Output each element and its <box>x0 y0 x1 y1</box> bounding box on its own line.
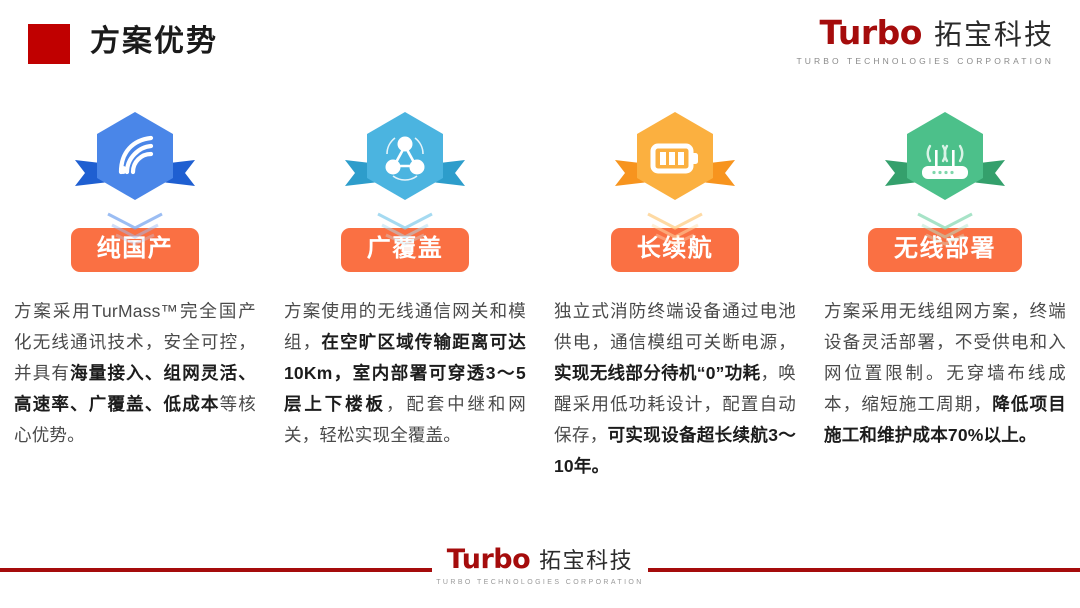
chevron-decoration-icon <box>374 212 436 246</box>
feature-column-1: 纯国产 方案采用TurMass™完全国产化无线通讯技术，安全可控，并具有海量接入… <box>0 100 270 540</box>
chevron-decoration-icon <box>644 212 706 246</box>
slide-root: 方案优势 Turbo 拓宝科技 TURBO TECHNOLOGIES CORPO… <box>0 0 1080 608</box>
header-brand-name-cn: 拓宝科技 <box>934 21 1054 49</box>
hexagon-shape <box>633 110 717 202</box>
feature-column-2: 广覆盖 方案使用的无线通信网关和模组，在空旷区域传输距离可达10Km，室内部署可… <box>270 100 540 540</box>
footer-brand-name-cn: 拓宝科技 <box>539 550 633 572</box>
footer-rule-right <box>648 568 1080 572</box>
feature-column-4: 无线部署 方案采用无线组网方案，终端设备灵活部署，不受供电和入网位置限制。无穿墙… <box>810 100 1080 540</box>
body-wrap-3: 独立式消防终端设备通过电池供电，通信模组可关断电源，实现无线部分待机“0”功耗，… <box>554 280 796 482</box>
badge-wrap-2 <box>284 100 526 220</box>
badge-wrap-1 <box>14 100 256 220</box>
slide-footer: Turbo 拓宝科技 TURBO TECHNOLOGIES CORPORATIO… <box>0 546 1080 608</box>
feature-paragraph-1: 方案采用TurMass™完全国产化无线通讯技术，安全可控，并具有海量接入、组网灵… <box>14 296 256 451</box>
body-wrap-4: 方案采用无线组网方案，终端设备灵活部署，不受供电和入网位置限制。无穿墙布线成本，… <box>824 280 1066 451</box>
hexagon-shape <box>93 110 177 202</box>
chevron-decoration-icon <box>914 212 976 246</box>
network-nodes-badge-icon <box>351 108 459 212</box>
body-wrap-2: 方案使用的无线通信网关和模组，在空旷区域传输距离可达10Km，室内部署可穿透3～… <box>284 280 526 451</box>
header-brand-row: Turbo 拓宝科技 <box>796 16 1054 49</box>
header-brand-subtitle: TURBO TECHNOLOGIES CORPORATION <box>796 56 1054 66</box>
title-marker <box>28 24 70 64</box>
feature-paragraph-4: 方案采用无线组网方案，终端设备灵活部署，不受供电和入网位置限制。无穿墙布线成本，… <box>824 296 1066 451</box>
feature-columns: 纯国产 方案采用TurMass™完全国产化无线通讯技术，安全可控，并具有海量接入… <box>0 100 1080 540</box>
hexagon-shape <box>903 110 987 202</box>
header-brand-logo: Turbo 拓宝科技 TURBO TECHNOLOGIES CORPORATIO… <box>796 16 1054 66</box>
wireless-router-badge-icon <box>891 108 999 212</box>
wifi-signal-badge-icon <box>81 108 189 212</box>
slide-header: 方案优势 Turbo 拓宝科技 TURBO TECHNOLOGIES CORPO… <box>0 0 1080 90</box>
footer-brand-row: Turbo 拓宝科技 <box>436 546 643 573</box>
feature-paragraph-2: 方案使用的无线通信网关和模组，在空旷区域传输距离可达10Km，室内部署可穿透3～… <box>284 296 526 451</box>
body-wrap-1: 方案采用TurMass™完全国产化无线通讯技术，安全可控，并具有海量接入、组网灵… <box>14 280 256 451</box>
badge-wrap-4 <box>824 100 1066 220</box>
feature-column-3: 长续航 独立式消防终端设备通过电池供电，通信模组可关断电源，实现无线部分待机“0… <box>540 100 810 540</box>
feature-paragraph-3: 独立式消防终端设备通过电池供电，通信模组可关断电源，实现无线部分待机“0”功耗，… <box>554 296 796 482</box>
page-title: 方案优势 <box>90 20 218 64</box>
hexagon-shape <box>363 110 447 202</box>
footer-brand-name-en: Turbo <box>447 546 530 573</box>
badge-wrap-3 <box>554 100 796 220</box>
footer-rule-left <box>0 568 432 572</box>
footer-brand-logo: Turbo 拓宝科技 TURBO TECHNOLOGIES CORPORATIO… <box>436 546 643 586</box>
footer-brand-subtitle: TURBO TECHNOLOGIES CORPORATION <box>436 579 643 586</box>
battery-badge-icon <box>621 108 729 212</box>
chevron-decoration-icon <box>104 212 166 246</box>
header-brand-name-en: Turbo <box>820 16 922 49</box>
